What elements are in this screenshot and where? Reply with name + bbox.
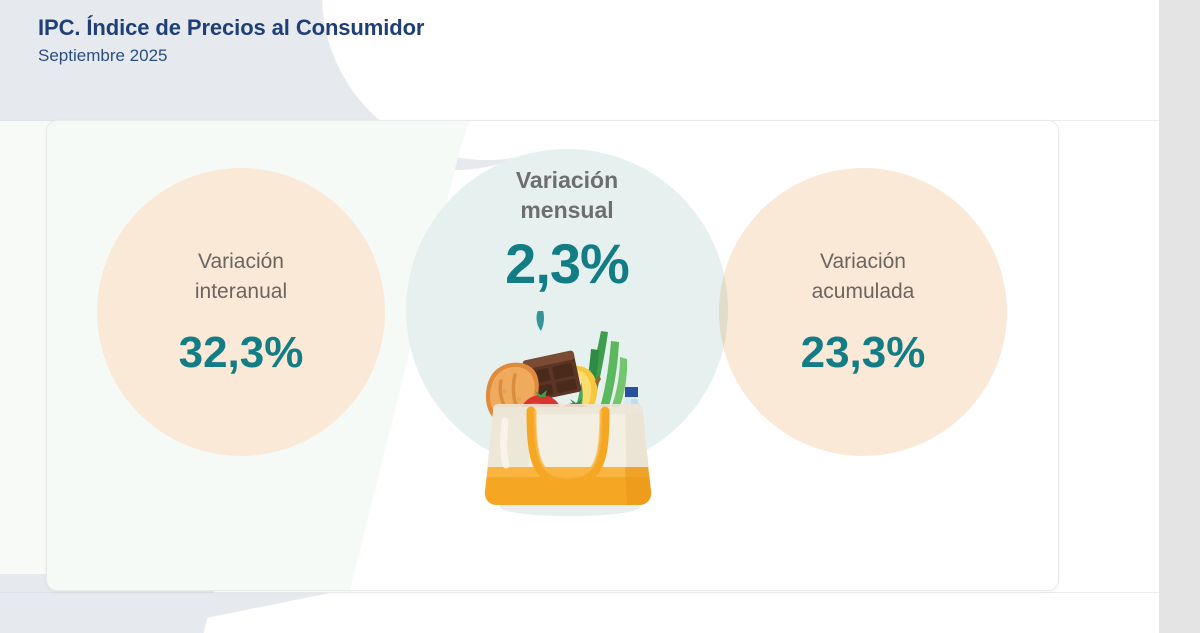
stat-mensual-label: Variación mensual	[453, 166, 681, 226]
stat-mensual: Variación mensual 2,3%	[453, 166, 681, 294]
stat-interanual-value: 32,3%	[143, 330, 339, 376]
stat-mensual-value: 2,3%	[453, 235, 681, 294]
right-gutter-band	[1159, 0, 1200, 633]
shopping-bag-icon	[475, 311, 665, 523]
page-title: IPC. Índice de Precios al Consumidor	[38, 14, 424, 42]
footer-divider	[0, 592, 1159, 593]
header: IPC. Índice de Precios al Consumidor Sep…	[38, 14, 424, 68]
page-subtitle: Septiembre 2025	[38, 44, 424, 69]
stat-interanual: Variación interanual 32,3%	[143, 247, 339, 376]
page-root: IPC. Índice de Precios al Consumidor Sep…	[0, 0, 1200, 633]
stats-card: Variación interanual 32,3% Variación men…	[46, 120, 1059, 591]
stat-acumulada-value: 23,3%	[765, 330, 961, 376]
stat-interanual-label: Variación interanual	[143, 247, 339, 308]
stat-acumulada-label: Variación acumulada	[765, 247, 961, 308]
stat-acumulada: Variación acumulada 23,3%	[765, 247, 961, 376]
